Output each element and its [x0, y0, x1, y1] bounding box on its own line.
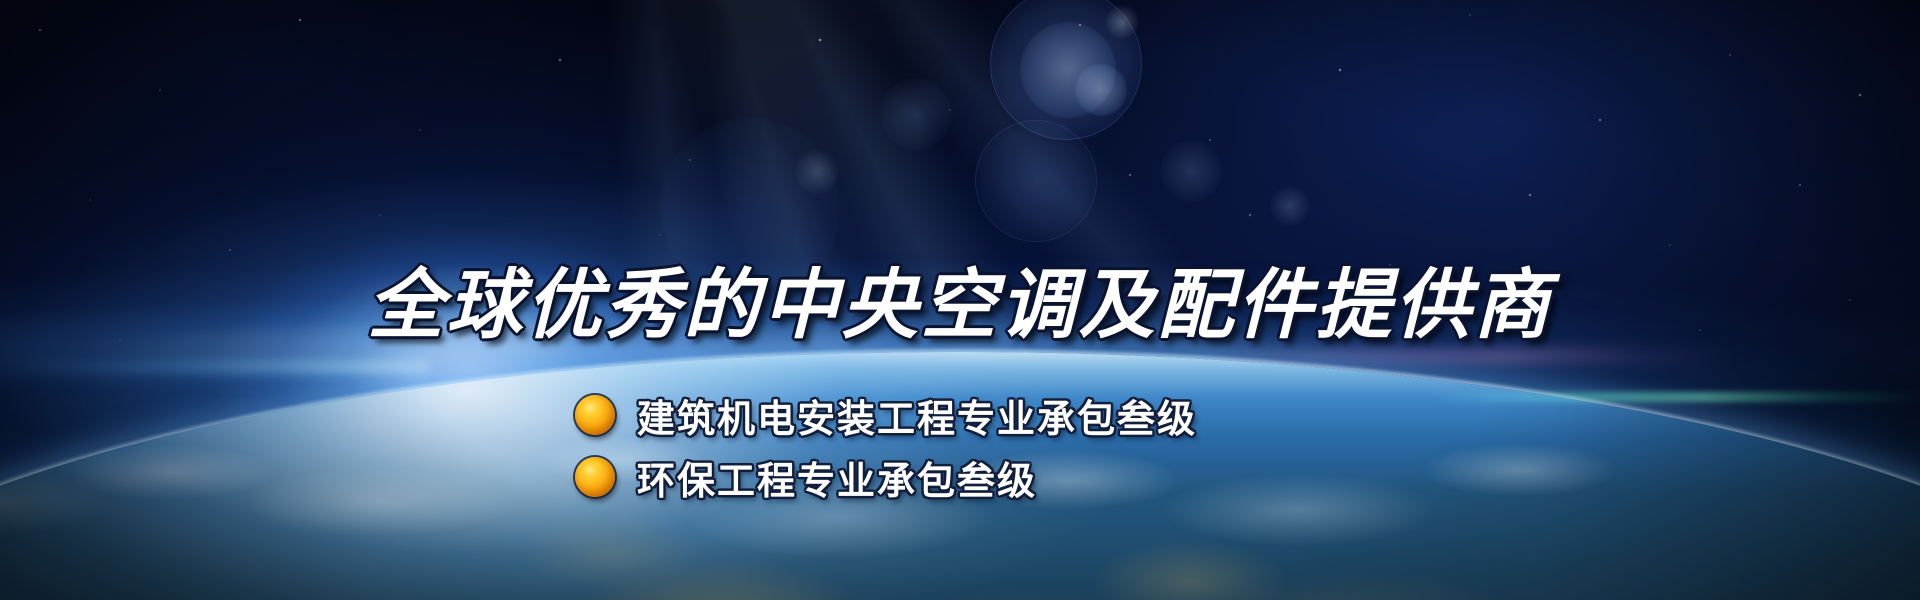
banner-qualification-list: 建筑机电安装工程专业承包叁级 环保工程专业承包叁级 — [575, 386, 1197, 510]
list-item: 环保工程专业承包叁级 — [575, 448, 1197, 506]
banner-headline: 全球优秀的中央空调及配件提供商 — [0, 243, 1920, 353]
banner-content: 全球优秀的中央空调及配件提供商 建筑机电安装工程专业承包叁级 环保工程专业承包叁… — [0, 0, 1920, 600]
list-item-label: 环保工程专业承包叁级 — [637, 450, 1037, 505]
orange-sphere-bullet-icon — [575, 395, 615, 435]
hero-banner: 全球优秀的中央空调及配件提供商 建筑机电安装工程专业承包叁级 环保工程专业承包叁… — [0, 0, 1920, 600]
orange-sphere-bullet-icon — [575, 457, 615, 497]
list-item-label: 建筑机电安装工程专业承包叁级 — [637, 388, 1197, 443]
list-item: 建筑机电安装工程专业承包叁级 — [575, 386, 1197, 444]
